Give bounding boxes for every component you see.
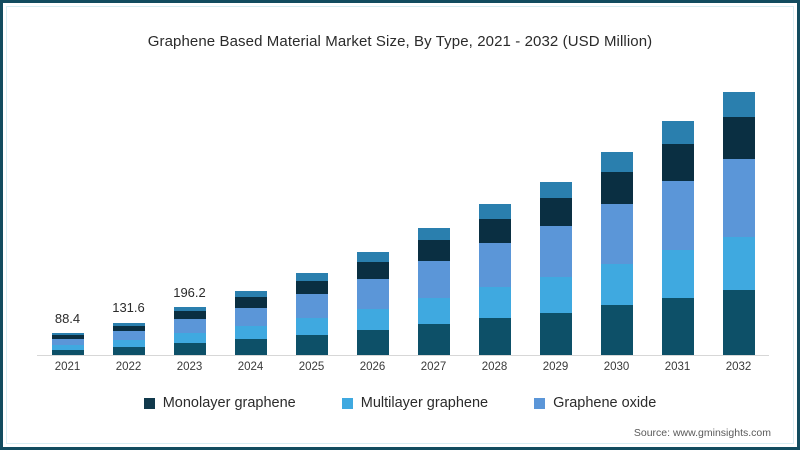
- bar-segment-graphene_oxide: [479, 243, 511, 287]
- bar-segment-multilayer: [662, 250, 694, 298]
- bar-stack: [357, 252, 389, 355]
- legend-label-multilayer: Multilayer graphene: [361, 395, 488, 411]
- bar-segment-multilayer: [479, 287, 511, 318]
- bar-segment-multilayer: [601, 264, 633, 306]
- bar-stack: [723, 92, 755, 355]
- bar-column[interactable]: 88.4: [52, 333, 84, 355]
- bar-segment-graphene_oxide: [418, 261, 450, 298]
- bar-stack: [296, 273, 328, 355]
- bar-segment-cap: [662, 121, 694, 143]
- bar-segment-multilayer: [174, 333, 206, 343]
- bar-column[interactable]: [357, 252, 389, 355]
- bar-segment-monolayer_upper: [357, 262, 389, 278]
- bar-stack: [601, 152, 633, 355]
- bar-column[interactable]: [540, 182, 572, 355]
- bar-segment-monolayer_upper: [662, 144, 694, 181]
- bar-segment-cap: [296, 273, 328, 281]
- source-attribution: Source: www.gminsights.com: [634, 427, 771, 439]
- bar-segment-graphene_oxide: [174, 319, 206, 333]
- bar-segment-monolayer_upper: [235, 297, 267, 307]
- bar-segment-cap: [479, 204, 511, 218]
- bar-segment-multilayer: [418, 298, 450, 324]
- bar-segment-graphene_oxide: [357, 279, 389, 309]
- bar-stack: [52, 333, 84, 355]
- bar-segment-graphene_oxide: [601, 204, 633, 264]
- bar-segment-multilayer: [357, 309, 389, 330]
- bar-segment-graphene_oxide: [296, 294, 328, 318]
- bar-segment-graphene_oxide: [113, 331, 145, 341]
- bar-segment-cap: [723, 92, 755, 117]
- bar-segment-monolayer_lower: [540, 313, 572, 355]
- bar-column[interactable]: [235, 291, 267, 355]
- bar-segment-monolayer_upper: [174, 311, 206, 319]
- bar-segment-monolayer_upper: [540, 198, 572, 226]
- bar-segment-cap: [540, 182, 572, 198]
- bar-stack: [662, 121, 694, 355]
- legend-item-graphene-oxide[interactable]: Graphene oxide: [534, 395, 656, 411]
- legend-swatch-multilayer: [342, 398, 353, 409]
- bar-segment-monolayer_lower: [662, 298, 694, 355]
- bar-segment-cap: [418, 228, 450, 240]
- bar-segment-monolayer_lower: [235, 339, 267, 355]
- chart-legend: Monolayer graphene Multilayer graphene G…: [3, 395, 797, 411]
- bar-segment-cap: [357, 252, 389, 262]
- bar-segment-cap: [601, 152, 633, 171]
- bar-segment-graphene_oxide: [540, 226, 572, 277]
- bar-segment-monolayer_lower: [723, 290, 755, 355]
- bar-column[interactable]: [418, 228, 450, 355]
- bar-column[interactable]: [662, 121, 694, 355]
- bar-stack: [540, 182, 572, 355]
- bar-column[interactable]: 131.6: [113, 322, 145, 355]
- bar-column[interactable]: [601, 152, 633, 355]
- bar-segment-multilayer: [723, 237, 755, 291]
- legend-item-monolayer[interactable]: Monolayer graphene: [144, 395, 296, 411]
- bar-stack: [479, 204, 511, 355]
- bar-segment-monolayer_lower: [601, 305, 633, 355]
- bar-segment-monolayer_lower: [296, 335, 328, 355]
- bar-segment-monolayer_lower: [357, 330, 389, 355]
- bar-segment-graphene_oxide: [723, 159, 755, 237]
- bar-segment-monolayer_lower: [113, 347, 145, 355]
- bar-stack: [113, 322, 145, 355]
- bar-segment-graphene_oxide: [235, 308, 267, 327]
- bar-value-label: 131.6: [84, 300, 174, 315]
- chart-card: Graphene Based Material Market Size, By …: [0, 0, 800, 450]
- x-axis-tick-2032: 2032: [694, 361, 784, 373]
- bar-column[interactable]: [723, 92, 755, 355]
- bar-stack: [174, 307, 206, 356]
- bar-segment-monolayer_upper: [723, 117, 755, 159]
- legend-label-graphene-oxide: Graphene oxide: [553, 395, 656, 411]
- bar-segment-multilayer: [113, 340, 145, 347]
- bar-segment-monolayer_lower: [479, 318, 511, 355]
- bar-segment-multilayer: [296, 318, 328, 335]
- bar-stack: [235, 291, 267, 355]
- bar-segment-multilayer: [235, 326, 267, 339]
- bar-segment-multilayer: [540, 277, 572, 312]
- bar-column[interactable]: [296, 273, 328, 355]
- bar-segment-monolayer_upper: [601, 172, 633, 204]
- bar-column[interactable]: 196.2: [174, 307, 206, 356]
- bar-segment-monolayer_upper: [418, 240, 450, 260]
- plot-area: 88.4131.6196.2: [37, 83, 769, 355]
- bar-value-label: 196.2: [145, 285, 235, 300]
- bar-segment-monolayer_lower: [174, 343, 206, 355]
- x-axis-line: [37, 355, 769, 356]
- bar-segment-graphene_oxide: [662, 181, 694, 250]
- page-title: Graphene Based Material Market Size, By …: [3, 33, 797, 50]
- bar-stack: [418, 228, 450, 355]
- bar-segment-monolayer_upper: [296, 281, 328, 294]
- legend-swatch-monolayer: [144, 398, 155, 409]
- bar-segment-monolayer_lower: [418, 324, 450, 355]
- bar-segment-monolayer_upper: [479, 219, 511, 243]
- bar-column[interactable]: [479, 204, 511, 355]
- legend-label-monolayer: Monolayer graphene: [163, 395, 296, 411]
- legend-item-multilayer[interactable]: Multilayer graphene: [342, 395, 488, 411]
- legend-swatch-graphene-oxide: [534, 398, 545, 409]
